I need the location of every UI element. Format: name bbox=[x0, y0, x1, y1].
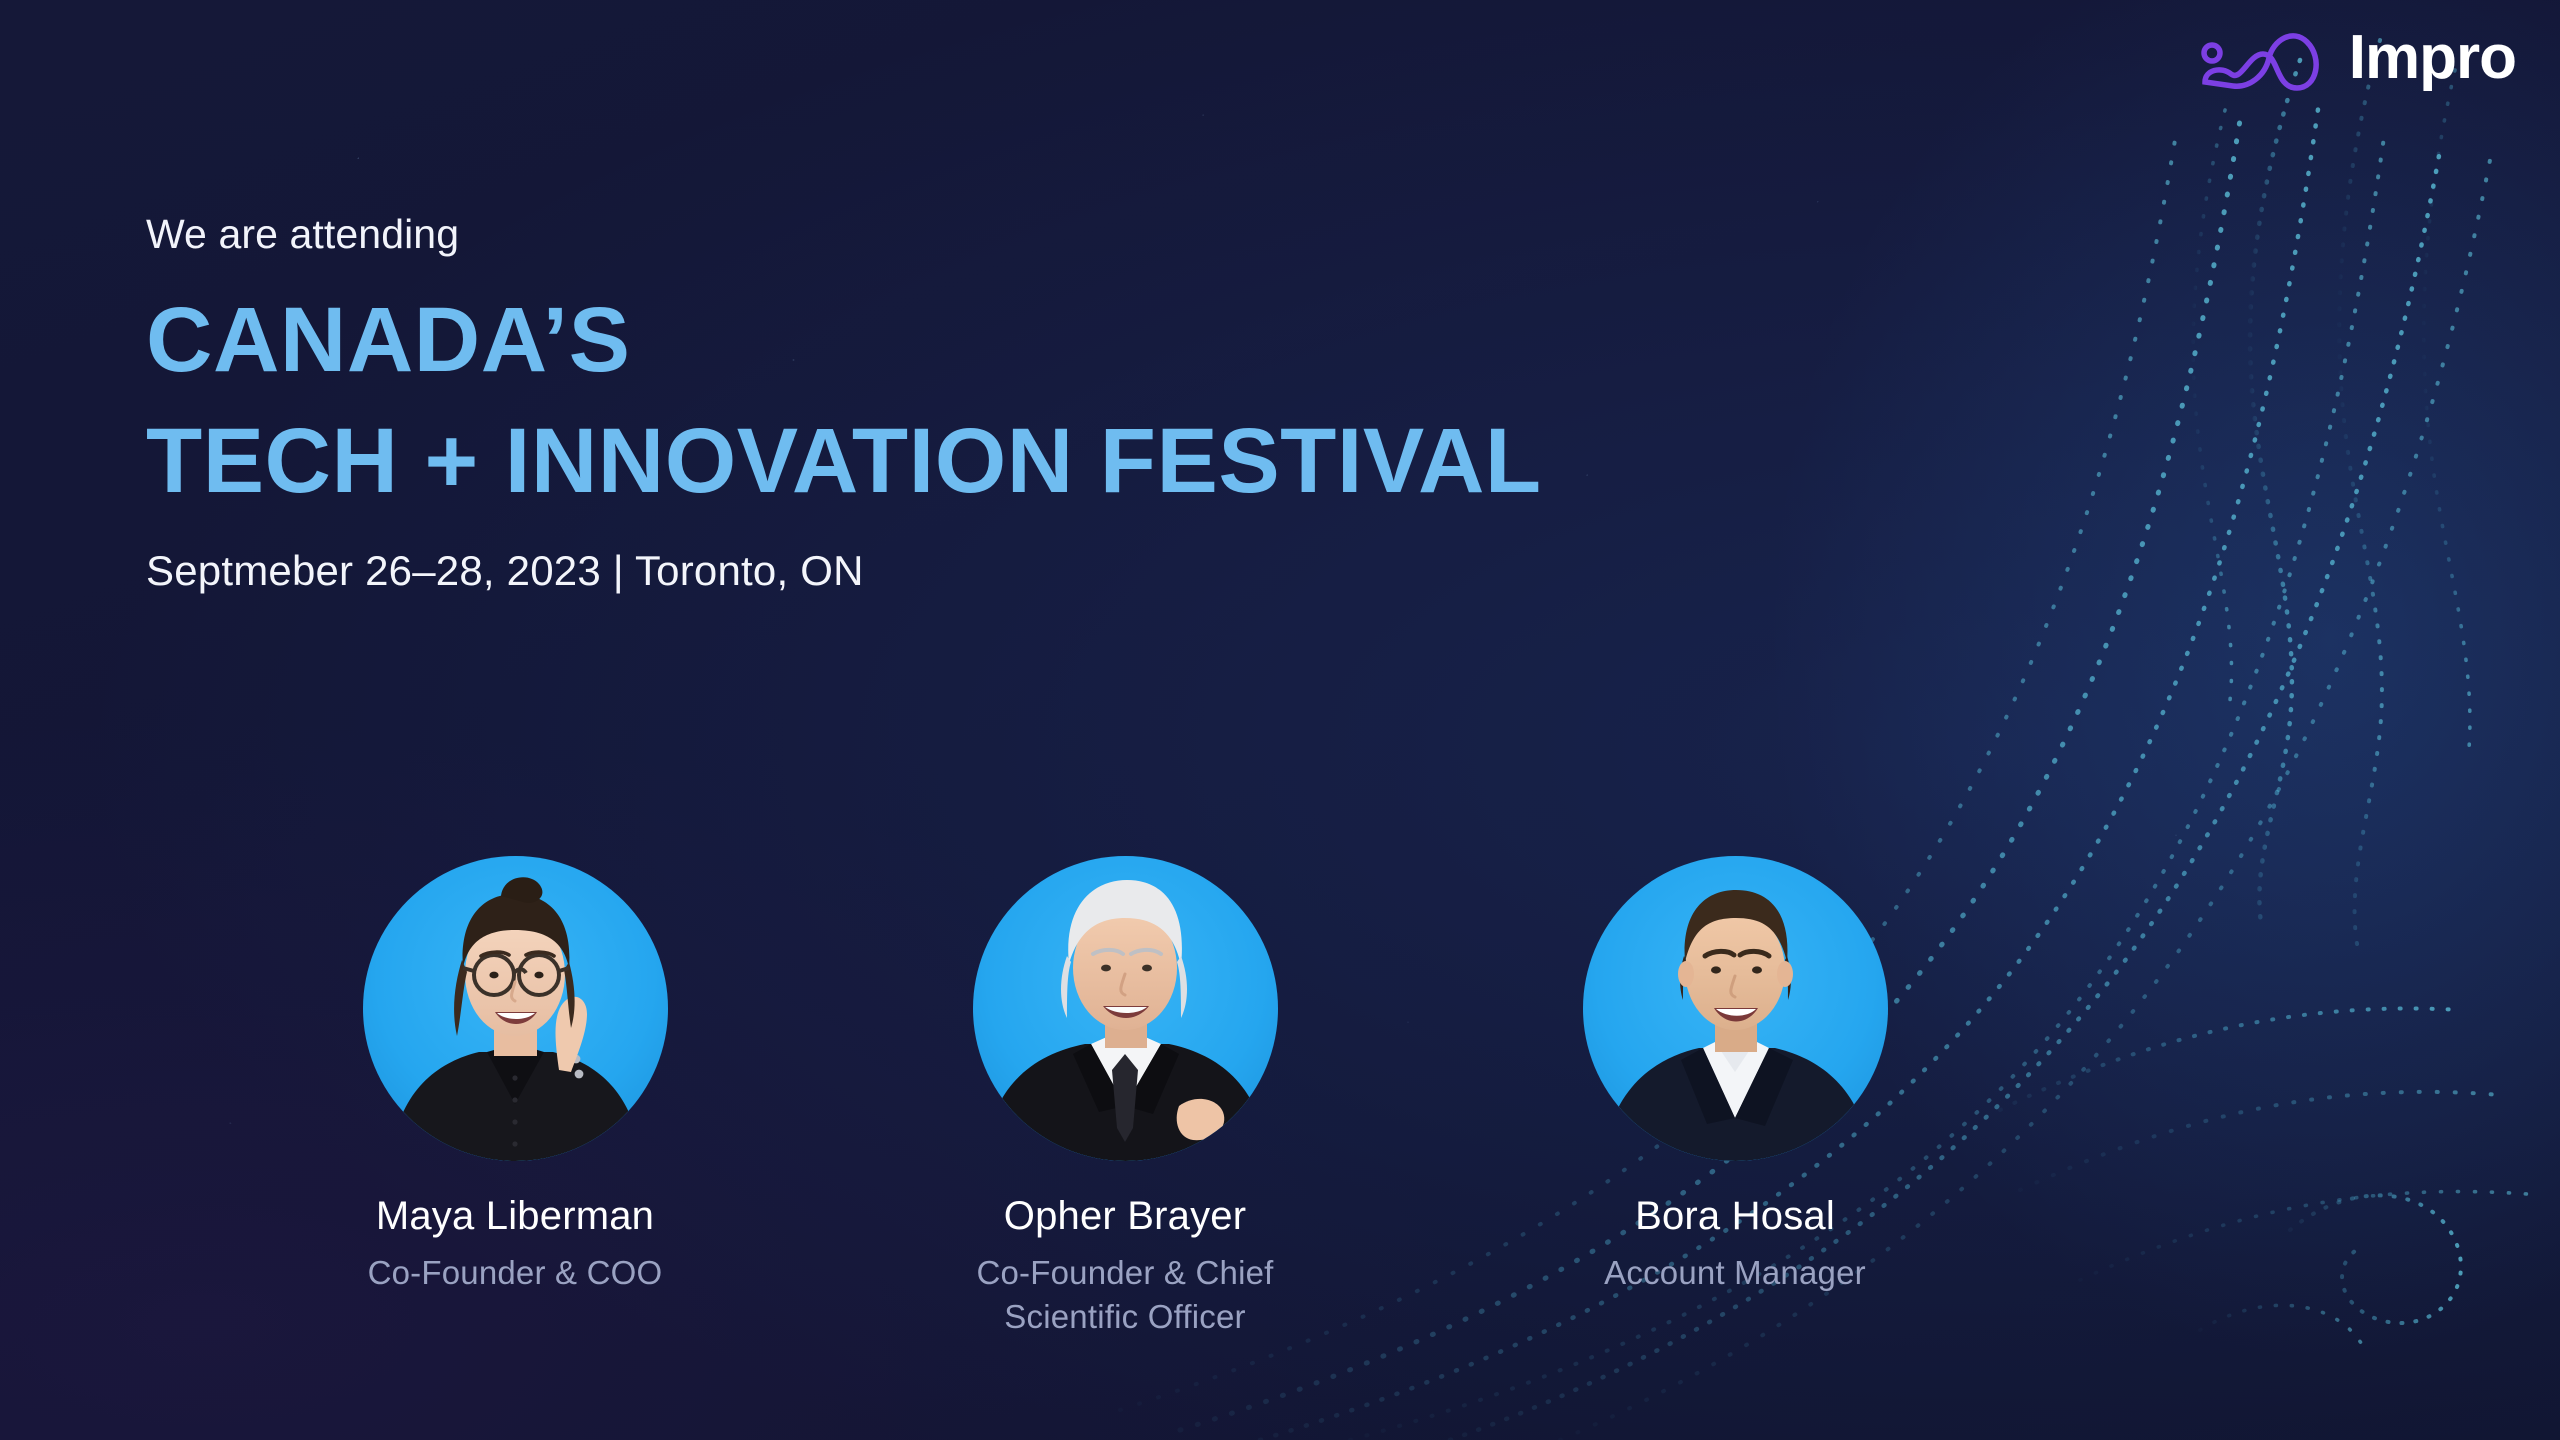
hero-title-line-1: CANADA’S bbox=[146, 291, 1946, 390]
speaker-role: Account Manager bbox=[1604, 1251, 1866, 1295]
avatar bbox=[973, 856, 1278, 1161]
avatar bbox=[1583, 856, 1888, 1161]
hero-text-block: We are attending CANADA’S TECH + INNOVAT… bbox=[146, 212, 1946, 594]
speaker-name: Maya Liberman bbox=[376, 1193, 654, 1239]
presentation-slide: Impro We are attending CANADA’S TECH + I… bbox=[0, 0, 2560, 1440]
brand-wordmark: Impro bbox=[2349, 27, 2516, 89]
hero-title-line-2: TECH + INNOVATION FESTIVAL bbox=[146, 412, 1946, 511]
speaker-card[interactable]: Opher Brayer Co-Founder & Chief Scientif… bbox=[970, 856, 1280, 1338]
event-date-location: Septmeber 26–28, 2023 | Toronto, ON bbox=[146, 548, 1946, 594]
brand-logo[interactable]: Impro bbox=[2197, 22, 2516, 94]
speaker-list: Maya Liberman Co-Founder & COO bbox=[360, 856, 2190, 1338]
hero-eyebrow: We are attending bbox=[146, 212, 1946, 257]
impro-loop-icon bbox=[2197, 22, 2327, 94]
speaker-name: Opher Brayer bbox=[1004, 1193, 1247, 1239]
speaker-card[interactable]: Maya Liberman Co-Founder & COO bbox=[360, 856, 670, 1338]
speaker-role: Co-Founder & Chief Scientific Officer bbox=[975, 1251, 1275, 1338]
avatar bbox=[363, 856, 668, 1161]
speaker-role: Co-Founder & COO bbox=[368, 1251, 663, 1295]
speaker-name: Bora Hosal bbox=[1635, 1193, 1835, 1239]
speaker-card[interactable]: Bora Hosal Account Manager bbox=[1580, 856, 1890, 1338]
